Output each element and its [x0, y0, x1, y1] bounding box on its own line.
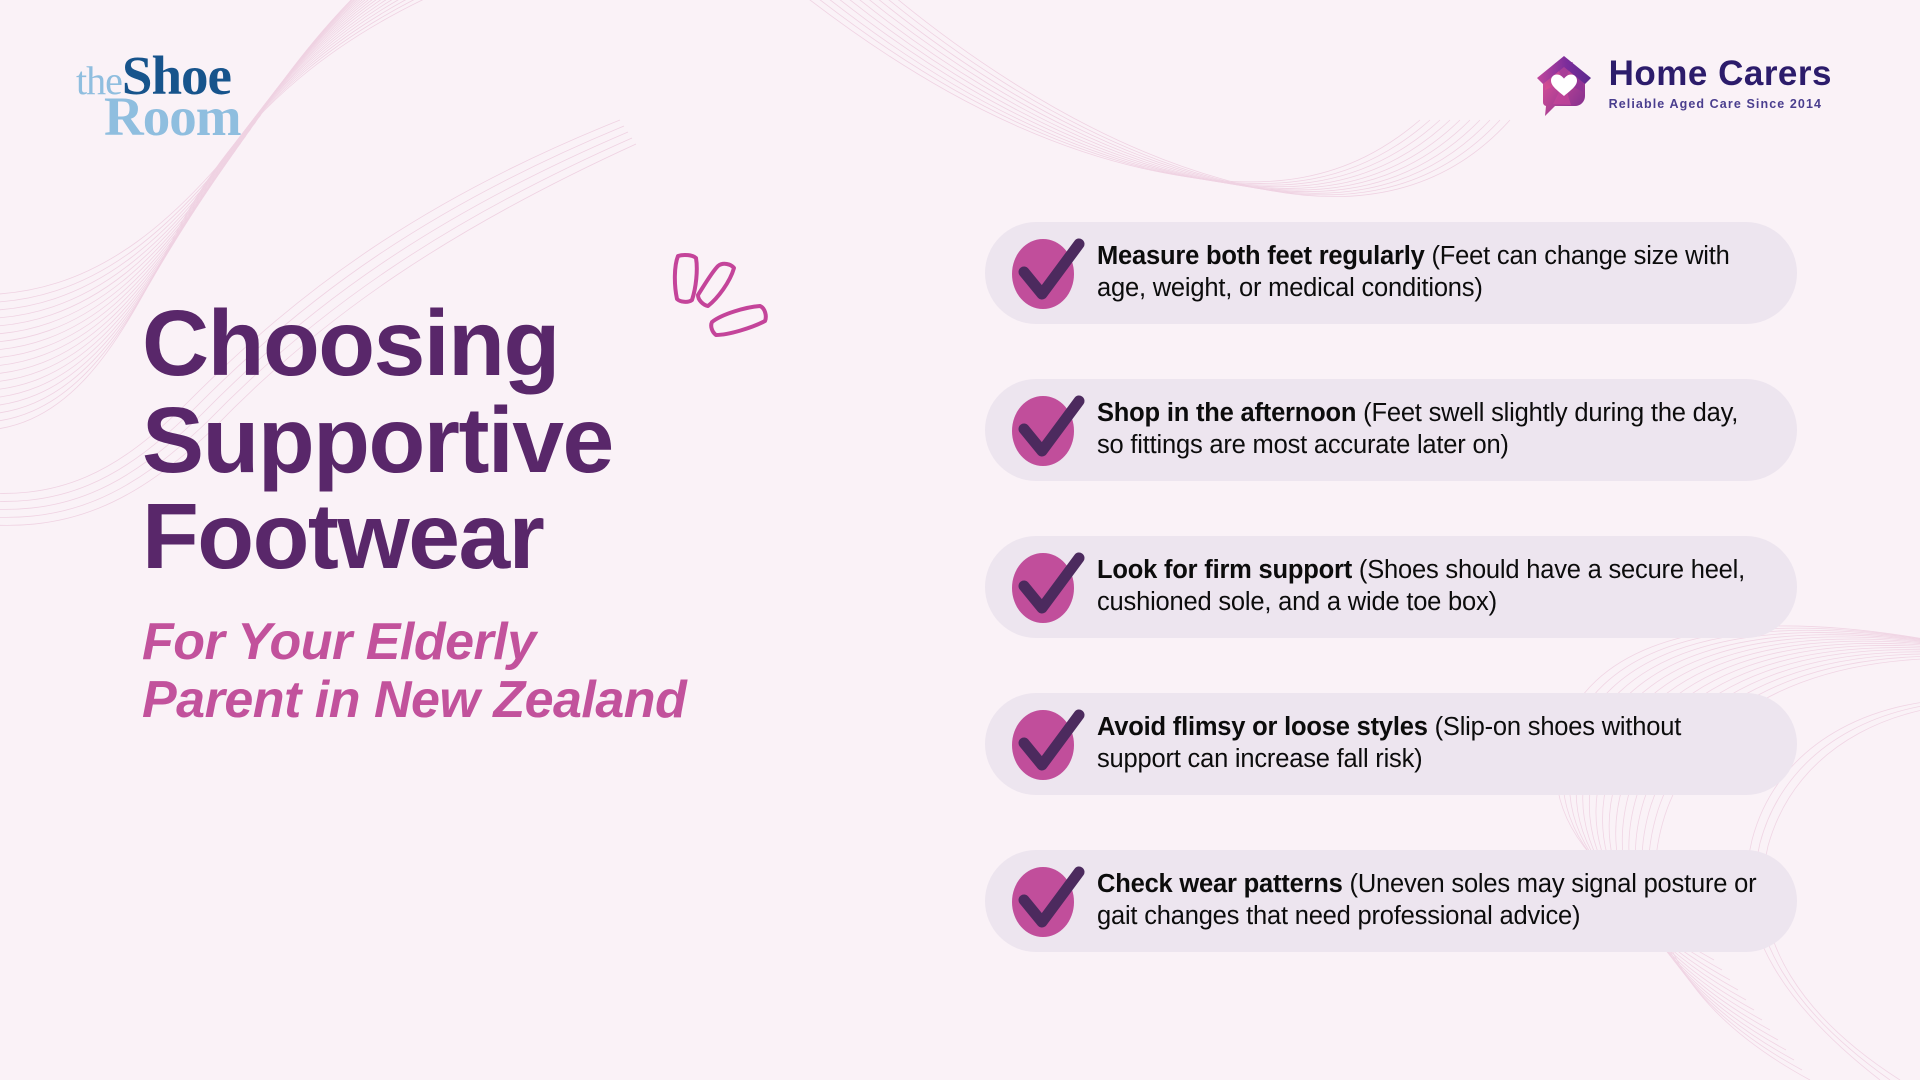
headline-block: Choosing Supportive Footwear For Your El…: [142, 295, 842, 730]
house-heart-icon: [1533, 48, 1595, 118]
list-item-lead: Check wear patterns: [1097, 870, 1343, 898]
shoe-room-logo: theShoe Room: [76, 52, 241, 141]
list-item-text: Avoid flimsy or loose styles (Slip-on sh…: [1097, 712, 1763, 775]
headline-line-3: Footwear: [142, 488, 842, 585]
list-item-text: Check wear patterns (Uneven soles may si…: [1097, 869, 1763, 932]
home-carers-wordmark: Home Carers Reliable Aged Care Since 201…: [1609, 56, 1832, 111]
check-circle-icon: [1011, 862, 1083, 940]
page-subtitle: For Your Elderly Parent in New Zealand: [142, 613, 842, 729]
list-item-text: Measure both feet regularly (Feet can ch…: [1097, 241, 1763, 304]
page-title: Choosing Supportive Footwear: [142, 295, 842, 585]
list-item: Avoid flimsy or loose styles (Slip-on sh…: [985, 693, 1797, 795]
list-item: Check wear patterns (Uneven soles may si…: [985, 850, 1797, 952]
subheadline-line-1: For Your Elderly: [142, 613, 842, 671]
checklist: Measure both feet regularly (Feet can ch…: [985, 222, 1797, 952]
headline-line-1: Choosing: [142, 295, 842, 392]
list-item-lead: Look for firm support: [1097, 556, 1352, 584]
subheadline-line-2: Parent in New Zealand: [142, 671, 842, 729]
list-item: Shop in the afternoon (Feet swell slight…: [985, 379, 1797, 481]
list-item-text: Shop in the afternoon (Feet swell slight…: [1097, 398, 1763, 461]
list-item-text: Look for firm support (Shoes should have…: [1097, 555, 1763, 618]
check-circle-icon: [1011, 705, 1083, 783]
check-circle-icon: [1011, 391, 1083, 469]
headline-line-2: Supportive: [142, 392, 842, 489]
list-item-lead: Shop in the afternoon: [1097, 399, 1356, 427]
check-circle-icon: [1011, 234, 1083, 312]
shoe-room-word-room: Room: [104, 93, 241, 140]
home-carers-logo: Home Carers Reliable Aged Care Since 201…: [1533, 48, 1832, 118]
check-circle-icon: [1011, 548, 1083, 626]
list-item: Measure both feet regularly (Feet can ch…: [985, 222, 1797, 324]
list-item-lead: Measure both feet regularly: [1097, 242, 1425, 270]
list-item-lead: Avoid flimsy or loose styles: [1097, 713, 1428, 741]
list-item: Look for firm support (Shoes should have…: [985, 536, 1797, 638]
home-carers-name: Home Carers: [1609, 56, 1832, 91]
home-carers-tagline: Reliable Aged Care Since 2014: [1609, 97, 1832, 111]
